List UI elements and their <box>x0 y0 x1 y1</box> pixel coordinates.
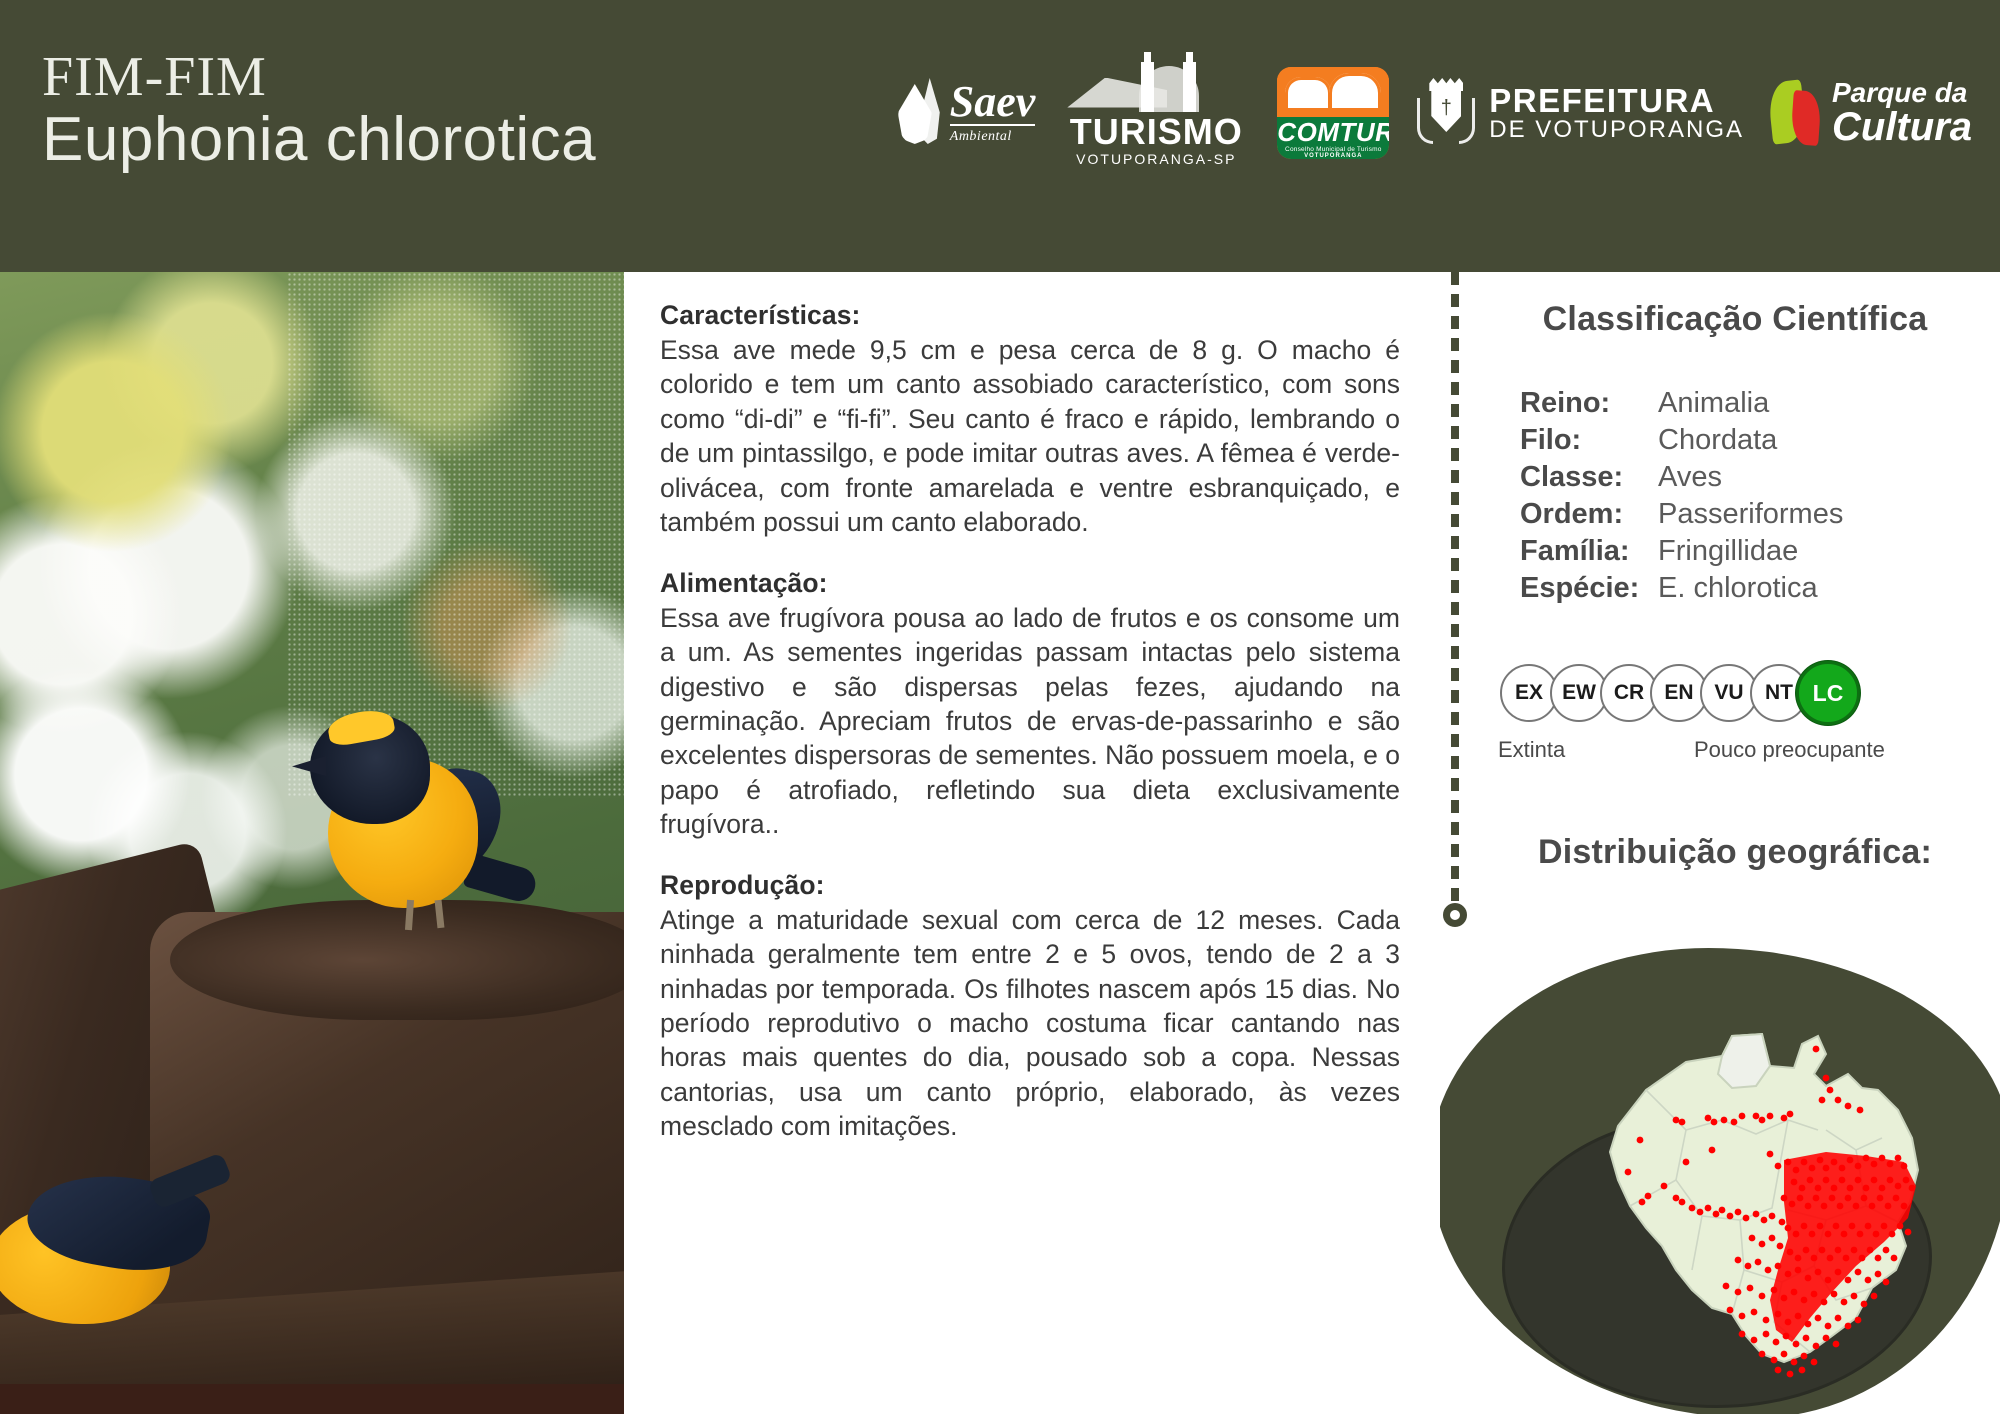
section-body: Essa ave mede 9,5 cm e pesa cerca de 8 g… <box>660 333 1400 540</box>
taxonomy-key: Família: <box>1520 535 1648 568</box>
partner-logos: Saev Ambiental TURISMO VOTUPORANGA-SP CO… <box>896 58 1972 168</box>
section-heading: Alimentação: <box>660 568 1400 599</box>
brazil-map-icon <box>1526 970 1956 1400</box>
logo-turismo-sub: VOTUPORANGA-SP <box>1061 151 1251 167</box>
logo-saev-name: Saev <box>950 81 1036 127</box>
taxonomy-value: Aves <box>1658 461 1722 494</box>
section-body: Atinge a maturidade sexual com cerca de … <box>660 903 1400 1144</box>
table-row: Reino: Animalia <box>1520 387 2000 420</box>
conservation-status-scale: EX EW CR EN VU NT LC <box>1500 661 2000 725</box>
logo-prefeitura: PREFEITURA DE VOTUPORANGA <box>1415 76 1744 150</box>
logo-comtur: COMTUR Conselho Municipal de Turismo VOT… <box>1277 67 1389 159</box>
right-panel: Classificação Científica Reino: Animalia… <box>1470 300 2000 872</box>
species-fact-sheet-page: FIM-FIM Euphonia chlorotica Saev Ambient… <box>0 0 2000 1414</box>
species-photo <box>0 272 624 1414</box>
pavilion-icon <box>1277 67 1389 117</box>
page-title-scientific-name: Euphonia chlorotica <box>42 105 596 174</box>
taxonomy-key: Reino: <box>1520 387 1648 420</box>
taxonomy-value: Animalia <box>1658 387 1769 420</box>
logo-saev: Saev Ambiental <box>896 78 1036 148</box>
taxonomy-key: Ordem: <box>1520 498 1648 531</box>
distribution-title: Distribuição geográfica: <box>1470 833 2000 872</box>
section-heading: Reprodução: <box>660 870 1400 901</box>
logo-parque-da-cultura: Parque da Cultura <box>1770 75 1972 151</box>
page-title-common-name: FIM-FIM <box>42 48 596 107</box>
bird-upper <box>288 712 518 922</box>
dotted-divider <box>1451 272 1459 910</box>
leaf-face-icon <box>1770 75 1822 151</box>
logo-prefeitura-sub: DE VOTUPORANGA <box>1489 117 1744 142</box>
logo-parque-line2: Cultura <box>1832 107 1972 147</box>
species-description: Características: Essa ave mede 9,5 cm e … <box>660 300 1400 1144</box>
taxonomy-key: Espécie: <box>1520 572 1648 605</box>
divider-end-circle-icon <box>1443 903 1467 927</box>
city-crest-icon <box>1415 76 1477 150</box>
logo-turismo: TURISMO VOTUPORANGA-SP <box>1061 60 1251 167</box>
section-heading: Características: <box>660 300 1400 331</box>
taxonomy-key: Filo: <box>1520 424 1648 457</box>
table-row: Espécie: E. chlorotica <box>1520 572 2000 605</box>
conservation-status-labels: Extinta Pouco preocupante <box>1498 737 1968 767</box>
classification-table: Reino: Animalia Filo: Chordata Classe: A… <box>1520 387 2000 605</box>
table-row: Família: Fringillidae <box>1520 535 2000 568</box>
taxonomy-value: Passeriformes <box>1658 498 1843 531</box>
table-row: Classe: Aves <box>1520 461 2000 494</box>
taxonomy-value: Fringillidae <box>1658 535 1798 568</box>
taxonomy-value: Chordata <box>1658 424 1777 457</box>
logo-saev-sub: Ambiental <box>950 129 1036 145</box>
photo-log-foreground <box>0 1384 624 1414</box>
status-badge-lc-active: LC <box>1796 661 1860 725</box>
taxonomy-value: E. chlorotica <box>1658 572 1818 605</box>
table-row: Ordem: Passeriformes <box>1520 498 2000 531</box>
bird-lower <box>0 1152 220 1342</box>
title-block: FIM-FIM Euphonia chlorotica <box>42 48 596 174</box>
status-label-least-concern: Pouco preocupante <box>1694 737 1885 763</box>
water-drop-icon <box>896 78 942 148</box>
section-caracteristicas: Características: Essa ave mede 9,5 cm e … <box>660 300 1400 540</box>
logo-comtur-sub: Conselho Municipal de Turismo <box>1277 146 1389 153</box>
page-number: 32 <box>1940 1363 1978 1402</box>
table-row: Filo: Chordata <box>1520 424 2000 457</box>
logo-comtur-name: COMTUR <box>1277 119 1389 146</box>
logo-prefeitura-name: PREFEITURA <box>1489 84 1744 118</box>
section-body: Essa ave frugívora pousa ao lado de frut… <box>660 601 1400 842</box>
logo-comtur-sub2: VOTUPORANGA <box>1277 153 1389 159</box>
taxonomy-key: Classe: <box>1520 461 1648 494</box>
section-alimentacao: Alimentação: Essa ave frugívora pousa ao… <box>660 568 1400 842</box>
church-pavilion-icon <box>1061 60 1251 112</box>
classification-title: Classificação Científica <box>1470 300 2000 339</box>
status-label-extinct: Extinta <box>1498 737 1565 763</box>
section-reproducao: Reprodução: Atinge a maturidade sexual c… <box>660 870 1400 1144</box>
logo-turismo-name: TURISMO <box>1061 114 1251 150</box>
distribution-map: 32 <box>1440 930 2000 1414</box>
page-header: FIM-FIM Euphonia chlorotica Saev Ambient… <box>0 0 2000 272</box>
logo-parque-line1: Parque da <box>1832 79 1972 107</box>
